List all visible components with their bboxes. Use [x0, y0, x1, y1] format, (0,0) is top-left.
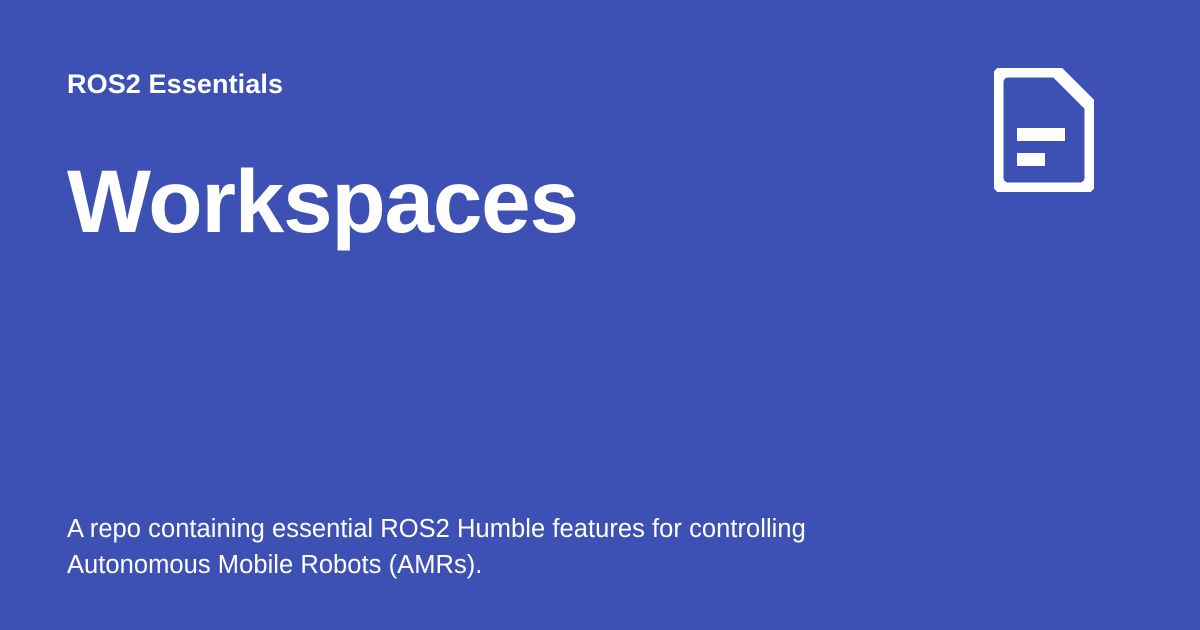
repository-owner-label: ROS2 Essentials	[67, 0, 1133, 101]
document-file-icon	[994, 68, 1094, 192]
repository-description: A repo containing essential ROS2 Humble …	[67, 511, 897, 583]
page-title: Workspaces	[67, 101, 1133, 249]
social-preview-card: ROS2 Essentials Workspaces A repo contai…	[0, 0, 1200, 630]
header-block: ROS2 Essentials Workspaces	[67, 0, 1133, 249]
